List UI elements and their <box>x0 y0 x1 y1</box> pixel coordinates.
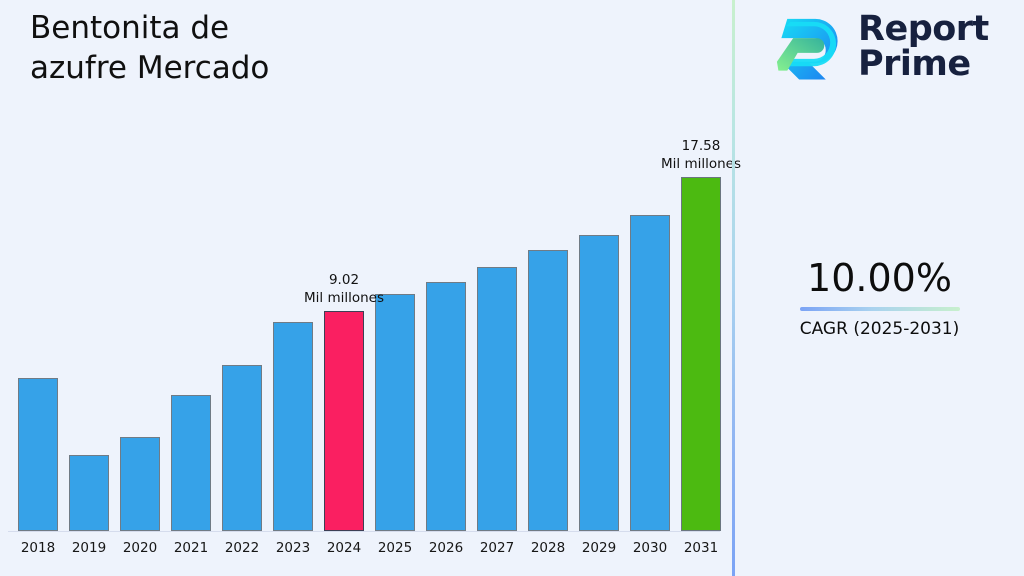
bar-2026[interactable] <box>426 282 466 531</box>
cagr-caption: CAGR (2025-2031) <box>735 318 1024 340</box>
x-axis-line <box>8 531 720 532</box>
bar-2019[interactable] <box>69 455 109 531</box>
x-tick-2031: 2031 <box>671 540 731 556</box>
cagr-block: 10.00% CAGR (2025-2031) <box>735 255 1024 340</box>
brand-name: Report Prime <box>858 12 989 82</box>
bar-2021[interactable] <box>171 395 211 531</box>
chart-panel: Bentonita de azufre Mercado 9.02 Mil mil… <box>0 0 733 576</box>
bar-2027[interactable] <box>477 267 517 531</box>
report-prime-logo-icon <box>771 10 845 84</box>
cagr-value: 10.00% <box>735 255 1024 301</box>
bar-2029[interactable] <box>579 235 619 531</box>
bar-2028[interactable] <box>528 250 568 531</box>
bar-2024[interactable] <box>324 311 364 531</box>
bar-2031[interactable] <box>681 177 721 531</box>
bar-2023[interactable] <box>273 322 313 531</box>
bar-2030[interactable] <box>630 215 670 531</box>
bar-2020[interactable] <box>120 437 160 531</box>
bar-chart: 9.02 Mil millones17.58 Mil millones 2018… <box>0 0 733 576</box>
bar-2025[interactable] <box>375 294 415 531</box>
info-panel: Report Prime 10.00% CAGR (2025-2031) <box>735 0 1024 576</box>
bar-2018[interactable] <box>18 378 58 531</box>
cagr-divider-rule <box>800 307 960 311</box>
screenshot-root: Bentonita de azufre Mercado 9.02 Mil mil… <box>0 0 1024 576</box>
value-label-2024: 9.02 Mil millones <box>284 271 404 307</box>
bar-2022[interactable] <box>222 365 262 531</box>
brand-logo: Report Prime <box>771 10 989 84</box>
